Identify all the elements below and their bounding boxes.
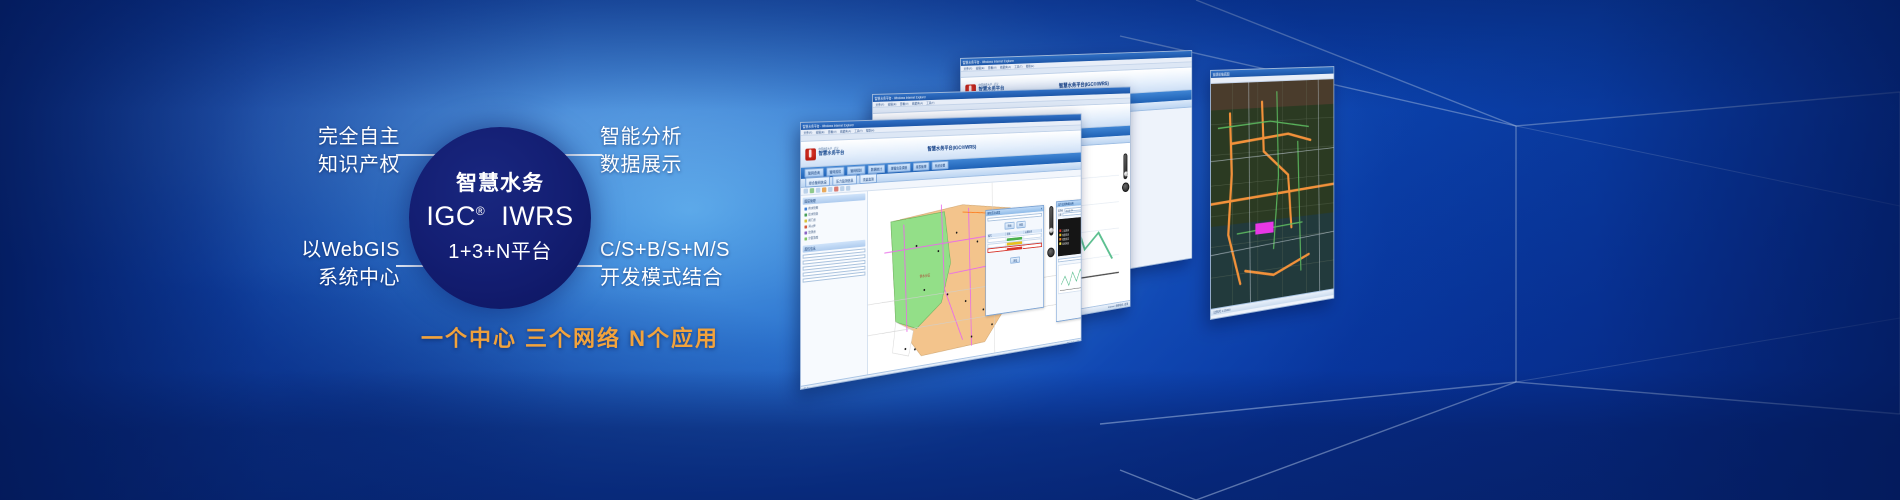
- front-menu-file[interactable]: 文件(F): [804, 130, 813, 134]
- menu-file-mid[interactable]: 文件(F): [876, 102, 885, 106]
- donut-legend: 正常区间 预警区间 报警区间: [1059, 228, 1069, 245]
- layer-swatch-1: [804, 213, 807, 216]
- registered-trademark-icon: ®: [476, 204, 485, 218]
- menu-view[interactable]: 查看(V): [988, 65, 997, 69]
- donut-chart-container: 正常区间 预警区间 报警区间: [1058, 213, 1081, 256]
- zoom-slider[interactable]: [1123, 153, 1127, 179]
- front-nav-item-5[interactable]: 报表管理: [913, 161, 930, 171]
- front-menu-edit[interactable]: 编辑(E): [816, 130, 825, 134]
- menu-edit-mid[interactable]: 编辑(E): [888, 102, 897, 106]
- analysis-field-label: 监测点: [1058, 208, 1063, 212]
- map-zoom-slider[interactable]: [1049, 206, 1053, 236]
- layer-label-1: 给水管段: [808, 212, 818, 217]
- company-logo-icon-front: [805, 148, 816, 160]
- tool-pointer-icon[interactable]: [804, 188, 808, 193]
- dialog-dispatch-body: 查询 重置 编号 状态 关阀时间: [986, 211, 1044, 270]
- feature-bottom-left: 以WebGIS 系统中心: [230, 236, 400, 293]
- center-hub-circle: 智慧水务 IGC® IWRS 1+3+N平台: [409, 127, 591, 309]
- satellite-map-canvas[interactable]: [1211, 79, 1334, 309]
- front-menu-view[interactable]: 查看(V): [828, 129, 837, 133]
- front-nav-item-4[interactable]: 爆管应急调度: [888, 163, 911, 174]
- front-menu-favorites[interactable]: 收藏夹(A): [840, 129, 851, 133]
- front-subnav-0[interactable]: 综合管网信息: [805, 176, 830, 187]
- map-status-text: 比例尺 1:25000: [1214, 308, 1231, 315]
- analysis-date-label: 日期: [1058, 213, 1061, 217]
- layer-label-0: 供水管网: [808, 206, 818, 211]
- menu-favorites-mid[interactable]: 收藏夹(A): [912, 101, 923, 105]
- satellite-map-svg: [1211, 79, 1334, 309]
- menu-tools[interactable]: 工具(T): [1014, 64, 1022, 68]
- tool-identify-icon[interactable]: [834, 186, 838, 191]
- window-front-brand-name: 智慧水务平台: [819, 150, 845, 157]
- layer-label-2: 阀门点: [808, 218, 815, 223]
- feature-top-right-line1: 智能分析: [600, 123, 682, 151]
- tool-zoom-in-icon[interactable]: [810, 188, 814, 193]
- window-front-brand: 中国地质大学 · 武汉 智慧水务平台: [819, 148, 845, 157]
- legend-item-3: 离线状态: [1059, 241, 1069, 246]
- legend-label-3: 离线状态: [1062, 241, 1069, 245]
- layer-swatch-2: [804, 219, 807, 222]
- feature-top-right: 智能分析 数据展示: [600, 123, 682, 180]
- front-menu-help[interactable]: 帮助(H): [866, 128, 874, 132]
- feature-bottom-right-line2: 开发模式结合: [600, 264, 730, 292]
- menu-placeholder: [1214, 78, 1215, 82]
- window-map-title: 遥感影像底图: [1213, 71, 1230, 77]
- analysis-mini-chart: [1058, 257, 1081, 294]
- menu-view-mid[interactable]: 查看(V): [900, 101, 909, 105]
- row2-cell-id: [988, 248, 1006, 253]
- front-nav-item-6[interactable]: 系统设置: [932, 160, 948, 170]
- dialog-pressure-analysis[interactable]: 压力监测数据分析 ✕ 监测点 中心区-01 日期: [1056, 195, 1081, 322]
- front-menu-tools[interactable]: 工具(T): [854, 128, 862, 132]
- layer-swatch-5: [804, 237, 807, 240]
- layer-swatch-3: [804, 225, 807, 228]
- dialog-emergency-dispatch[interactable]: 爆管应急调度 ✕ 查询 重置 编号: [985, 205, 1044, 316]
- layer-label-4: 监测点: [808, 230, 815, 235]
- banner-tagline: 一个中心 三个网络 N个应用: [360, 321, 780, 353]
- menu-tools-mid[interactable]: 工具(T): [926, 100, 934, 104]
- dispatch-locate-button[interactable]: 定位: [1010, 256, 1019, 264]
- layer-label-3: 消火栓: [808, 224, 815, 229]
- dispatch-footer-row: 定位: [987, 254, 1042, 267]
- feature-top-left-line2: 知识产权: [230, 151, 400, 179]
- dialog-close-icon[interactable]: ✕: [1041, 207, 1043, 211]
- hub-product-iwrs: IWRS: [501, 201, 574, 231]
- front-subnav-2[interactable]: 流量监测: [859, 173, 877, 184]
- dispatch-reset-button[interactable]: 重置: [1016, 221, 1025, 229]
- menu-favorites[interactable]: 收藏夹(A): [1000, 65, 1011, 69]
- dispatch-result-table: 编号 状态 关阀时间: [987, 229, 1042, 254]
- hub-product-name: IGC® IWRS: [426, 202, 573, 230]
- layer-swatch-4: [804, 231, 807, 234]
- row2-cell-time: [1024, 244, 1041, 249]
- hub-chinese-title: 智慧水务: [456, 172, 544, 195]
- dispatch-query-button[interactable]: 查询: [1005, 222, 1015, 230]
- map-zoom-slider-knob[interactable]: [1049, 228, 1053, 234]
- tool-zoom-out-icon[interactable]: [816, 188, 820, 193]
- zoom-slider-knob[interactable]: [1124, 171, 1128, 176]
- hub-product-igc: IGC: [426, 201, 476, 231]
- tool-pan-icon[interactable]: [822, 187, 826, 192]
- menu-help[interactable]: 帮助(H): [1026, 64, 1034, 68]
- screenshot-stack: 遥感影像底图: [960, 0, 1660, 500]
- tool-layers-icon[interactable]: [846, 186, 850, 191]
- feature-bottom-right-line1: C/S+B/S+M/S: [600, 236, 730, 264]
- donut-area: 供水量 52.25: [1071, 215, 1081, 253]
- layer-label-5: 分区范围: [808, 235, 818, 240]
- feature-bottom-right: C/S+B/S+M/S 开发模式结合: [600, 236, 730, 293]
- window-satellite-map[interactable]: 遥感影像底图: [1210, 66, 1334, 320]
- hero-banner: 完全自主 知识产权 以WebGIS 系统中心 智能分析 数据展示 C/S+B/S…: [0, 0, 1900, 500]
- menu-edit[interactable]: 编辑(E): [976, 66, 985, 70]
- feature-bottom-left-line2: 系统中心: [230, 264, 400, 292]
- feature-top-right-line2: 数据展示: [600, 151, 682, 179]
- window-front-gis[interactable]: 智慧水务平台 - Windows Internet Explorer 文件(F)…: [800, 113, 1081, 390]
- row2-cell-state: [1006, 246, 1024, 251]
- front-subnav-1[interactable]: 压力监测信息: [833, 175, 857, 186]
- menu-file[interactable]: 文件(F): [964, 66, 973, 70]
- layer-swatch-0: [804, 207, 807, 210]
- feature-top-left: 完全自主 知识产权: [230, 123, 400, 180]
- layer-panel[interactable]: 图层管理 供水管网 给水管段 阀门点 消火栓: [801, 191, 868, 386]
- dialog-analysis-body: 监测点 中心区-01 日期: [1057, 201, 1081, 296]
- tool-measure-icon[interactable]: [828, 187, 832, 192]
- feature-top-left-line1: 完全自主: [230, 123, 400, 151]
- feature-bottom-left-line1: 以WebGIS: [230, 236, 400, 264]
- hub-platform-label: 1+3+N平台: [448, 235, 552, 264]
- tool-print-icon[interactable]: [840, 186, 844, 191]
- window-front-app-title: 智慧水务平台(IGC®IWRS): [927, 142, 976, 152]
- window-front-body: 图层管理 供水管网 给水管段 阀门点 消火栓: [801, 176, 1081, 385]
